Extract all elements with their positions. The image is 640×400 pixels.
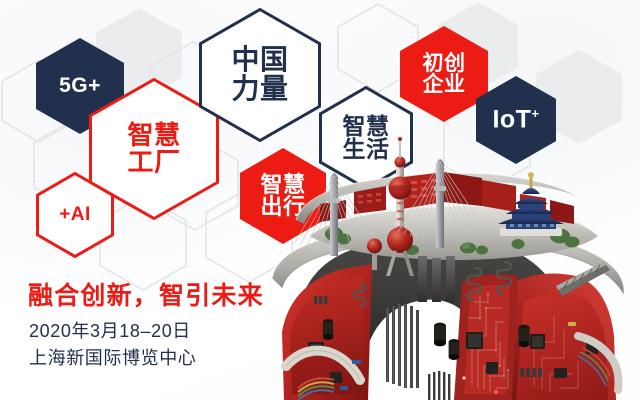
hexagon-shape	[400, 26, 488, 122]
event-date: 2020年3月18–20日	[29, 317, 191, 343]
hexagon-outline	[201, 10, 320, 141]
hexagon-outline	[400, 26, 488, 122]
hexagon-outline	[38, 174, 113, 257]
poster-headline: 融合创新，智引未来	[28, 276, 264, 312]
poster-canvas: 5G+智慧 工厂中国 力量+AI智慧 出行智慧 生活初创 企业IoT+	[0, 0, 640, 400]
hex-tag-startup-enterprise[interactable]: 初创 企业	[400, 26, 488, 122]
hex-tag-plus-ai[interactable]: +AI	[36, 172, 114, 258]
event-venue: 上海新国际博览中心	[29, 344, 196, 370]
hex-tag-china-power[interactable]: 中国 力量	[199, 8, 321, 142]
hexagon-shape	[199, 8, 321, 142]
circuit-board-city-illustration	[268, 136, 640, 400]
hexagon-shape	[36, 172, 114, 258]
support-columns	[418, 256, 455, 302]
